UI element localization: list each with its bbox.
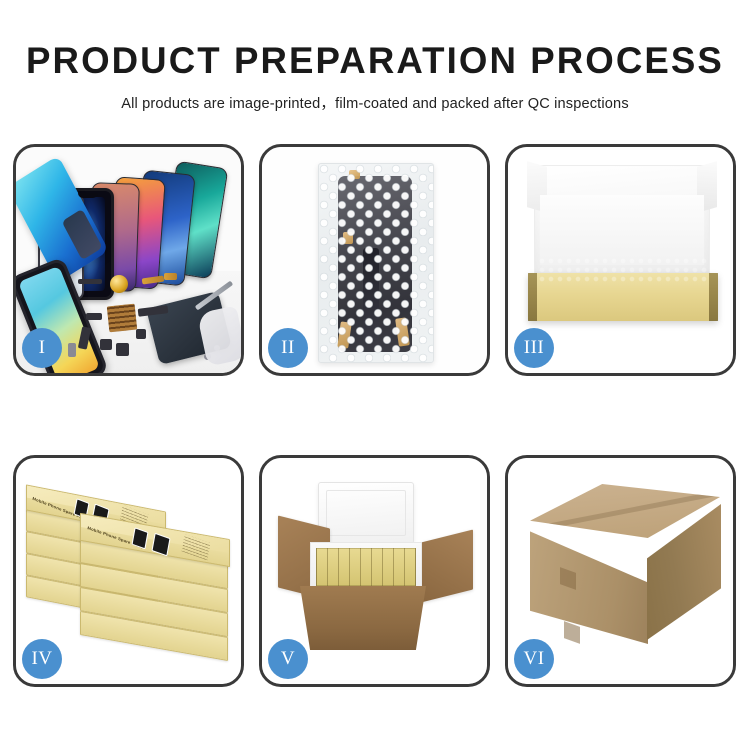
process-step-panel-4[interactable]: Mobile Phone Spare Parts Mobile Phone Sp… [13,455,244,687]
page-title: PRODUCT PREPARATION PROCESS [4,0,747,81]
carton-front-face [300,586,426,650]
step-badge-6: VI [514,639,554,679]
step-badge-3: III [514,328,554,368]
process-step-panel-2[interactable]: II [259,144,490,376]
carton-flap-right [421,530,473,603]
process-step-panel-6[interactable]: VI [505,455,736,687]
speaker-module [110,275,128,293]
process-panel-grid: I II [13,144,737,689]
step-badge-2: II [268,328,308,368]
spare-part-connector [164,273,177,280]
foam-box-lid [318,482,414,544]
box-left-end-flap [528,273,537,321]
packed-yellow-boxes [316,548,416,586]
box-window-b [151,533,170,557]
step-badge-4: IV [22,639,62,679]
header: PRODUCT PREPARATION PROCESS All products… [0,0,750,113]
spare-part-vibrator [100,339,112,350]
spare-part-button-cap [116,343,129,356]
process-step-panel-3[interactable]: III [505,144,736,376]
contact-pad-array [107,304,138,333]
foam-inner-face [540,195,704,265]
spare-part-sim-tray [68,343,76,357]
bubble-texture [319,164,433,362]
product-preparation-infographic: PRODUCT PREPARATION PROCESS All products… [0,0,750,750]
step-badge-5: V [268,639,308,679]
process-step-panel-5[interactable]: V [259,455,490,687]
kraft-inner-box [528,273,718,321]
step-badge-1: I [22,328,62,368]
bubble-wrap-bag [318,163,434,363]
process-step-panel-1[interactable]: I [13,144,244,376]
page-subtitle: All products are image-printed，film-coat… [0,81,750,113]
retail-box-stack: Mobile Phone Spare Parts Mobile Phone Sp… [22,478,240,670]
spare-part-camera-module [86,313,102,320]
spare-part-bar [78,279,102,284]
packed-screens-row [538,257,708,283]
carton-tape-lower [564,621,580,644]
spare-part-sensor [136,329,146,339]
box-right-end-flap [709,273,718,321]
